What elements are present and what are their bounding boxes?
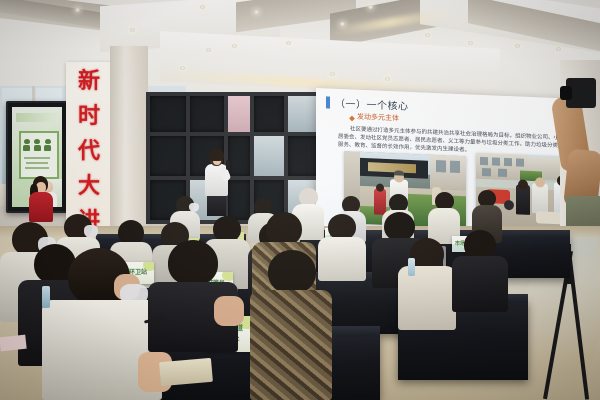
slide-title: （一）一个核心 [335,95,409,113]
camera-lens-icon [560,86,572,100]
attendee-far-right-dark [452,230,508,312]
slide-title-accent-bar [326,96,330,108]
water-bottle [408,258,415,276]
attendee-front-right-patterned [250,250,332,400]
paper-sheet [0,335,27,352]
microphone [226,160,230,170]
attendee-front-far-right [398,238,456,330]
attendee-front-dark-polo [148,240,238,350]
slide-bullet-text: 发动多元主体 [357,112,399,124]
attendee-front-center [42,248,162,400]
water-bottle [42,286,50,308]
lecture-hall-photo: 新 时 代 大 讲 （一）一个核心 [0,0,600,400]
speaker-skirt [207,194,226,216]
speaker-hair [209,149,224,161]
notebook [159,358,213,386]
